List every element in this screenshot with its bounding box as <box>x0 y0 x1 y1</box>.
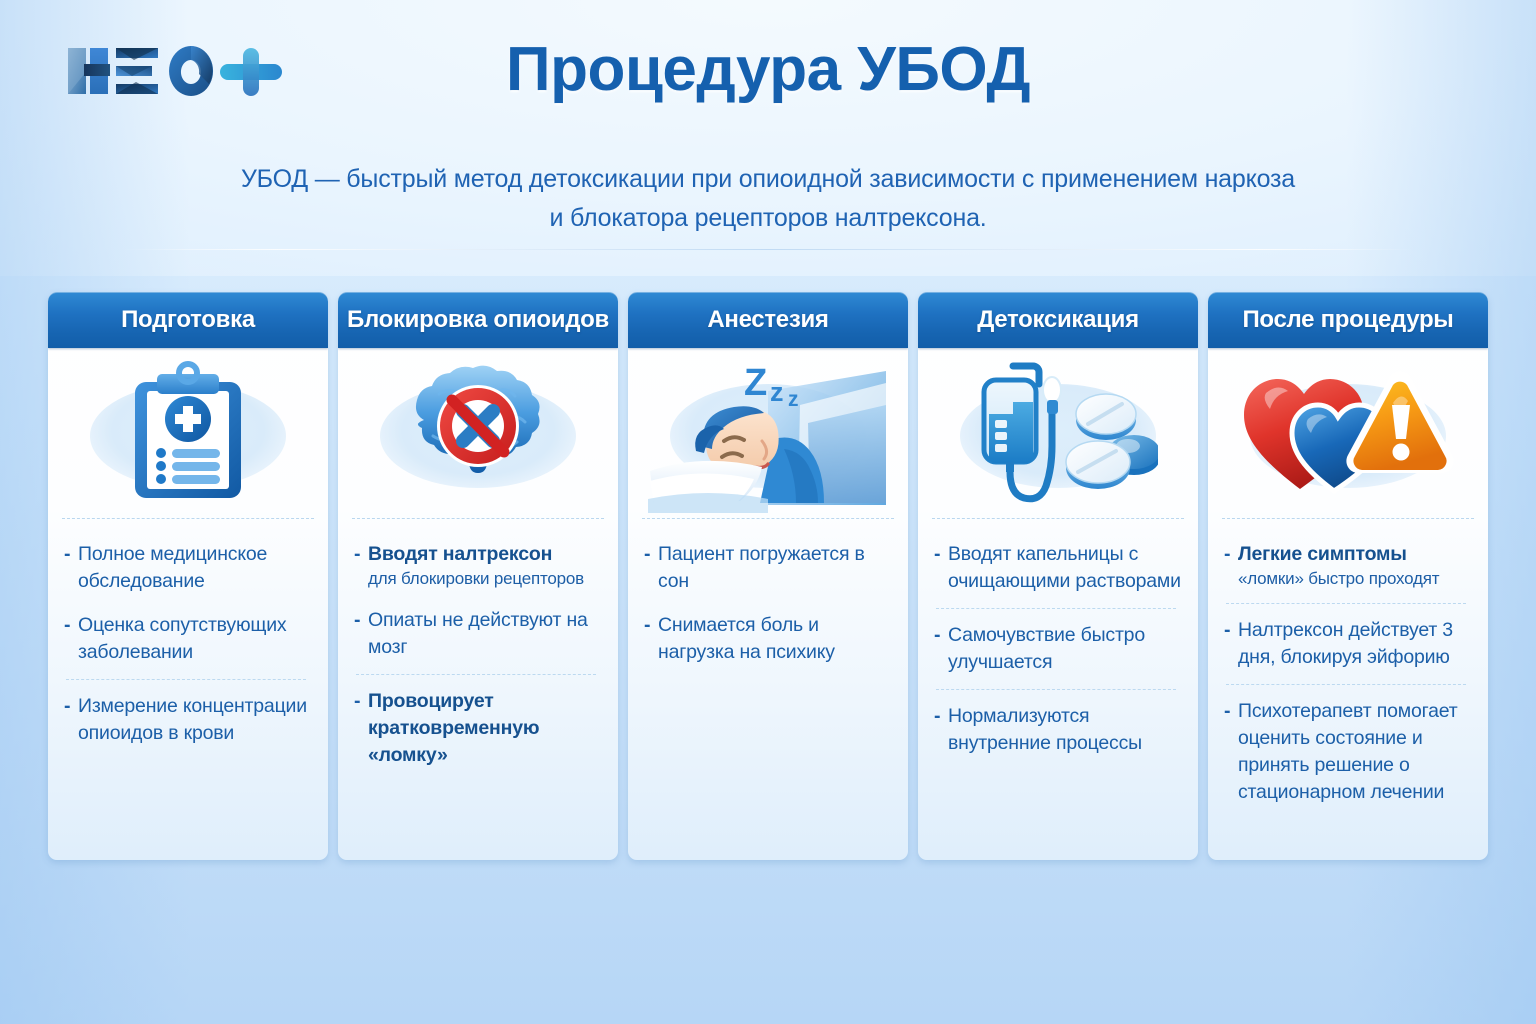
card-header-after: После процедуры <box>1208 292 1488 348</box>
card-title: После процедуры <box>1242 306 1453 334</box>
svg-text:z: z <box>770 377 784 407</box>
list-item: - Вводят налтрексон для блокировки рецеп… <box>354 539 602 592</box>
bullet-text: Снимается боль и нагрузка на психику <box>658 612 892 666</box>
list-item: - Легкие симптомы «ломки» быстро проходя… <box>1224 539 1472 592</box>
bullet-dash: - <box>644 612 658 639</box>
list-item: - Снимается боль и нагрузка на психику <box>644 610 892 668</box>
card-header-opioid-block: Блокировка опиоидов <box>338 292 618 348</box>
card-body: - Вводят капельницы с очищающими раствор… <box>918 519 1198 860</box>
bullet-gap <box>354 592 602 605</box>
bullet-dash: - <box>354 541 368 568</box>
list-item: - Вводят капельницы с очищающими раствор… <box>934 539 1182 597</box>
card-body: - Пациент погружается в сон - Снимается … <box>628 519 908 860</box>
subtitle-line-1: УБОД — быстрый метод детоксикации при оп… <box>0 160 1536 199</box>
bullet-text: Вводят капельницы с очищающими растворам… <box>948 541 1182 595</box>
list-item: - Пациент погружается в сон <box>644 539 892 597</box>
bullet-dash: - <box>1224 698 1238 725</box>
bullet-dash: - <box>1224 541 1238 568</box>
card-body: - Полное медицинское обследование - Оцен… <box>48 519 328 860</box>
bullet-text: Оценка сопутствующих заболевании <box>78 612 312 666</box>
card-icon-area <box>1208 348 1488 518</box>
card-title: Подготовка <box>121 306 255 334</box>
bullet-text: Провоцирует кратковременную «ломку» <box>368 688 602 769</box>
brain-blocked-icon <box>391 358 566 508</box>
procedure-steps-row: Подготовка <box>48 292 1488 860</box>
step-card-anesthesia[interactable]: Анестезия <box>628 292 908 860</box>
step-card-after[interactable]: После процедуры <box>1208 292 1488 860</box>
bullet-dash: - <box>644 541 658 568</box>
bullet-dash: - <box>1224 617 1238 644</box>
bullet-separator <box>1226 603 1466 604</box>
list-item: - Опиаты не действуют на мозг <box>354 605 602 663</box>
bullet-text: Измерение концентрации опиоидов в крови <box>78 693 312 747</box>
bullet-text: Легкие симптомы «ломки» быстро проходят <box>1238 541 1472 590</box>
list-item: - Налтрексон действует 3 дня, блокируя э… <box>1224 615 1472 673</box>
bullet-text: Полное медицинское обследование <box>78 541 312 595</box>
step-card-preparation[interactable]: Подготовка <box>48 292 328 860</box>
step-card-opioid-block[interactable]: Блокировка опиоидов <box>338 292 618 860</box>
card-icon-area: Z z z <box>628 348 908 518</box>
iv-drip-pills-icon <box>958 358 1158 508</box>
bullet-text: Вводят налтрексон для блокировки рецепто… <box>368 541 602 590</box>
bullet-list: - Вводят капельницы с очищающими раствор… <box>934 539 1182 758</box>
bullet-text: Психотерапевт помогает оценить состояние… <box>1238 698 1472 806</box>
bullet-list: - Вводят налтрексон для блокировки рецеп… <box>354 539 602 771</box>
bullet-gap <box>644 597 892 610</box>
bullet-dash: - <box>934 622 948 649</box>
card-header-preparation: Подготовка <box>48 292 328 348</box>
bullet-separator <box>936 608 1176 609</box>
bullet-text: Пациент погружается в сон <box>658 541 892 595</box>
bullet-text: Опиаты не действуют на мозг <box>368 607 602 661</box>
card-title: Детоксикация <box>977 306 1139 334</box>
bullet-subtext: для блокировки рецепторов <box>368 568 602 590</box>
page-subtitle: УБОД — быстрый метод детоксикации при оп… <box>0 160 1536 238</box>
bullet-dash: - <box>934 541 948 568</box>
bullet-text: Налтрексон действует 3 дня, блокируя эйф… <box>1238 617 1472 671</box>
card-icon-area <box>48 348 328 518</box>
bullet-dash: - <box>64 693 78 720</box>
bullet-text: Нормализуются внутренние процессы <box>948 703 1182 757</box>
page-header: Процедура УБОД УБОД — быстрый метод дето… <box>0 0 1536 250</box>
bullet-separator <box>356 674 596 675</box>
bullet-headline: Провоцирует кратковременную «ломку» <box>368 688 602 769</box>
bullet-dash: - <box>64 541 78 568</box>
bullet-separator <box>1226 684 1466 685</box>
card-title: Блокировка опиоидов <box>347 306 609 334</box>
clipboard-medical-icon <box>113 358 263 508</box>
bullet-headline: Вводят налтрексон <box>368 541 602 568</box>
sleeping-patient-icon: Z z z <box>648 353 888 513</box>
bullet-separator <box>66 679 306 680</box>
zzz-label: Z <box>744 362 767 404</box>
card-body: - Легкие симптомы «ломки» быстро проходя… <box>1208 519 1488 860</box>
bullet-list: - Полное медицинское обследование - Оцен… <box>64 539 312 748</box>
bullet-dash: - <box>354 688 368 715</box>
bullet-dash: - <box>354 607 368 634</box>
bullet-dash: - <box>64 612 78 639</box>
card-icon-area <box>918 348 1198 518</box>
list-item: - Провоцирует кратковременную «ломку» <box>354 686 602 771</box>
card-body: - Вводят налтрексон для блокировки рецеп… <box>338 519 618 860</box>
card-header-anesthesia: Анестезия <box>628 292 908 348</box>
svg-text:z: z <box>788 388 799 411</box>
list-item: - Измерение концентрации опиоидов в кров… <box>64 691 312 749</box>
bullet-text: Самочувствие быстро улучшается <box>948 622 1182 676</box>
bullet-gap <box>64 597 312 610</box>
bullet-separator <box>936 689 1176 690</box>
list-item: - Полное медицинское обследование <box>64 539 312 597</box>
bullet-list: - Пациент погружается в сон - Снимается … <box>644 539 892 668</box>
card-header-detox: Детоксикация <box>918 292 1198 348</box>
page-title: Процедура УБОД <box>0 34 1536 105</box>
bullet-subtext: «ломки» быстро проходят <box>1238 568 1472 590</box>
hearts-warning-icon <box>1238 363 1458 503</box>
list-item: - Самочувствие быстро улучшается <box>934 620 1182 678</box>
list-item: - Оценка сопутствующих заболевании <box>64 610 312 668</box>
bullet-dash: - <box>934 703 948 730</box>
bullet-headline: Легкие симптомы <box>1238 541 1472 568</box>
card-icon-area <box>338 348 618 518</box>
subtitle-line-2: и блокатора рецепторов налтрексона. <box>0 199 1536 238</box>
list-item: - Психотерапевт помогает оценить состоян… <box>1224 696 1472 808</box>
list-item: - Нормализуются внутренние процессы <box>934 701 1182 759</box>
card-title: Анестезия <box>707 306 828 334</box>
step-card-detox[interactable]: Детоксикация <box>918 292 1198 860</box>
bullet-list: - Легкие симптомы «ломки» быстро проходя… <box>1224 539 1472 808</box>
